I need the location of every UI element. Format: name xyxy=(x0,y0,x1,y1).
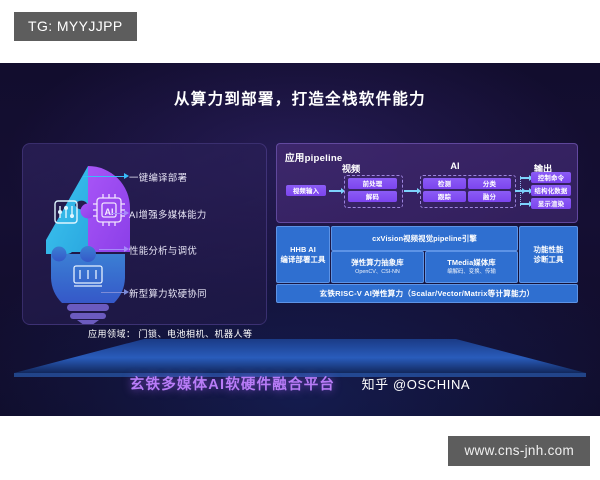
hhb-compile-tool-box: HHB AI 编译部署工具 xyxy=(276,226,330,283)
pipeline-header-video: 视频 xyxy=(321,161,381,175)
diagnostic-tool-box: 功能性能 诊断工具 xyxy=(519,226,578,283)
video-stage-chip-1: 前处理 xyxy=(348,178,397,189)
feature-label-2: AI增强多媒体能力 xyxy=(129,207,207,221)
feature-connector-3 xyxy=(99,249,125,250)
hhb-tool-line2: 编译部署工具 xyxy=(281,255,326,265)
hhb-tool-line1: HHB AI xyxy=(290,245,316,255)
tmedia-lib-box: TMedia媒体库 编解码、变换、传输 xyxy=(425,251,518,283)
svg-text:AI: AI xyxy=(105,207,114,217)
platform-brand-title: 玄铁多媒体AI软硬件融合平台 xyxy=(130,377,335,393)
feature-label-3: 性能分析与调优 xyxy=(129,243,197,257)
feature-label-4: 新型算力软硬协同 xyxy=(129,286,207,300)
video-stage-chip-2: 解码 xyxy=(348,191,397,202)
pipeline-arrow-input-to-video xyxy=(329,190,341,192)
ai-stage-chip-1: 检测 xyxy=(423,178,466,189)
cxvision-engine-label: cxVision视频视觉pipeline引擎 xyxy=(372,234,477,244)
elastic-compute-lib-box: 弹性算力抽象库 OpenCV、CSI-NN xyxy=(331,251,424,283)
risc-v-compute-bar: 玄铁RISC-V AI弹性算力（Scalar/Vector/Matrix等计算能… xyxy=(276,284,578,303)
elastic-lib-sub: OpenCV、CSI-NN xyxy=(355,269,400,276)
brand-row: 玄铁多媒体AI软硬件融合平台 知乎 @OSCHINA xyxy=(0,373,600,394)
architecture-card: 应用pipeline 视频 AI 输出 视频输入 前处理 解码 检测 分类 跟踪… xyxy=(276,143,576,323)
output-chip-1: 控制命令 xyxy=(531,172,571,183)
slide-title: 从算力到部署，打造全栈软件能力 xyxy=(0,87,600,109)
pipeline-arrow-out-1 xyxy=(520,177,529,179)
tg-watermark-badge: TG: MYYJJPP xyxy=(14,12,137,41)
ai-stage-chip-4: 融分 xyxy=(468,191,511,202)
software-stack: HHB AI 编译部署工具 cxVision视频视觉pipeline引擎 弹性算… xyxy=(276,226,576,281)
ai-stage-chip-2: 分类 xyxy=(468,178,511,189)
pipeline-arrow-video-to-ai xyxy=(404,190,417,192)
application-pipeline-box: 应用pipeline 视频 AI 输出 视频输入 前处理 解码 检测 分类 跟踪… xyxy=(276,143,578,223)
feature-connector-4 xyxy=(101,292,125,293)
feature-connector-2 xyxy=(111,213,125,214)
tmedia-lib-name: TMedia媒体库 xyxy=(447,258,496,268)
cxvision-engine-box: cxVision视频视觉pipeline引擎 xyxy=(331,226,518,251)
elastic-lib-name: 弹性算力抽象库 xyxy=(351,258,403,268)
slide-canvas: 从算力到部署，打造全栈软件能力 xyxy=(0,63,600,416)
pipeline-header-ai: AI xyxy=(417,161,493,171)
output-chip-2: 结构化数据 xyxy=(531,185,571,196)
feature-label-1: 一键编译部署 xyxy=(129,170,187,184)
capability-card: AI 一键编译部署 AI增强多媒体能力 性能分析与调优 xyxy=(22,143,267,325)
pipeline-input-chip: 视频输入 xyxy=(286,185,326,196)
diagnostic-tool-line1: 功能性能 xyxy=(534,245,564,255)
tmedia-lib-sub: 编解码、变换、传输 xyxy=(447,269,496,276)
feature-connector-1 xyxy=(83,176,125,177)
diagnostic-tool-line2: 诊断工具 xyxy=(534,255,564,265)
zhihu-watermark: 知乎 @OSCHINA xyxy=(362,377,471,392)
pipeline-arrow-out-3 xyxy=(520,203,529,205)
output-chip-3: 显示渲染 xyxy=(531,198,571,209)
pipeline-arrow-out-2 xyxy=(520,190,529,192)
url-watermark-badge: www.cns-jnh.com xyxy=(448,436,590,466)
ai-stage-chip-3: 跟踪 xyxy=(423,191,466,202)
